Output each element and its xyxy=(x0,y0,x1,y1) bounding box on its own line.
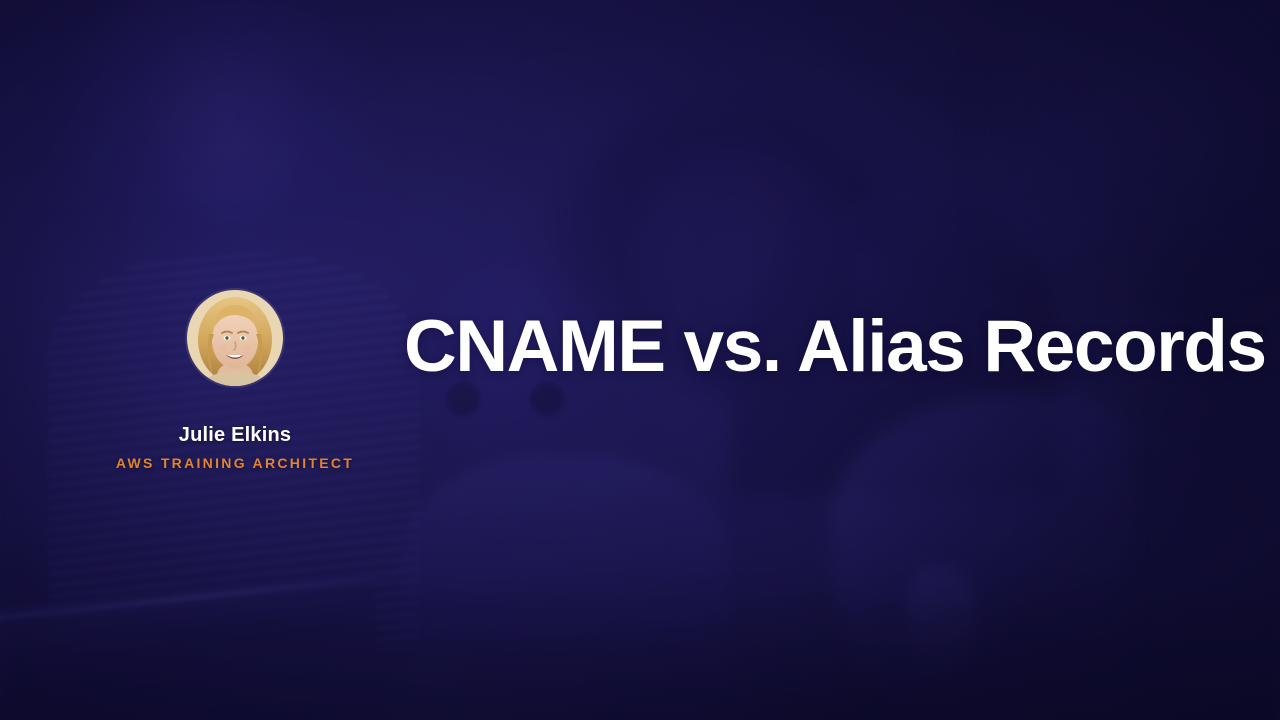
presenter-name: Julie Elkins xyxy=(179,424,291,446)
course-title-slide: Julie Elkins AWS TRAINING ARCHITECT CNAM… xyxy=(0,0,1280,720)
presenter-block: Julie Elkins AWS TRAINING ARCHITECT xyxy=(0,290,470,471)
slide-content: Julie Elkins AWS TRAINING ARCHITECT CNAM… xyxy=(0,0,1280,720)
page-title: CNAME vs. Alias Records xyxy=(404,310,1224,383)
instructor-headshot-icon xyxy=(187,290,283,386)
presenter-role: AWS TRAINING ARCHITECT xyxy=(116,456,354,471)
